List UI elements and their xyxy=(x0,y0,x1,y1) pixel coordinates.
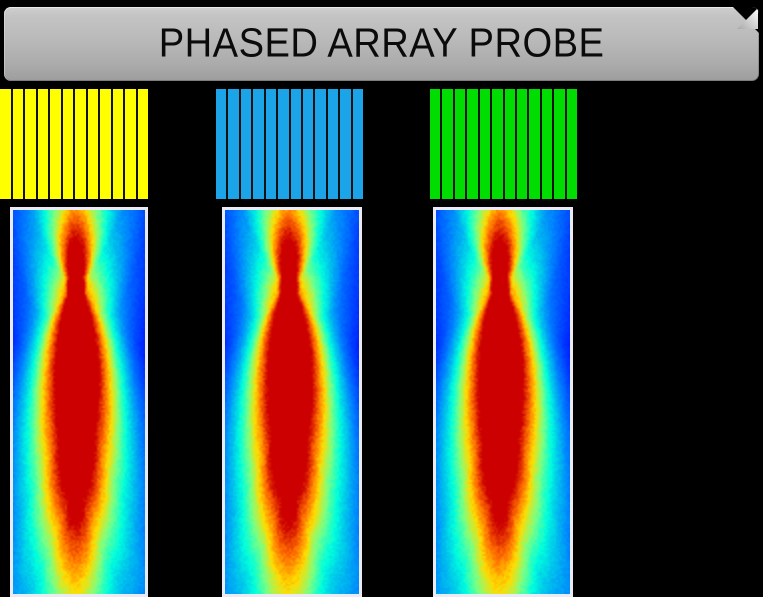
array-element[interactable] xyxy=(113,89,124,199)
title-banner: PHASED ARRAY PROBE xyxy=(4,7,759,81)
beam-field-image xyxy=(13,210,145,594)
array-element[interactable] xyxy=(138,89,149,199)
array-element[interactable] xyxy=(266,89,276,199)
array-element[interactable] xyxy=(529,89,539,199)
array-element[interactable] xyxy=(340,89,350,199)
array-element[interactable] xyxy=(303,89,313,199)
array-element[interactable] xyxy=(25,89,36,199)
array-element[interactable] xyxy=(100,89,111,199)
array-element[interactable] xyxy=(542,89,552,199)
beam-field-blue[interactable] xyxy=(222,207,362,597)
array-element[interactable] xyxy=(0,89,11,199)
array-element[interactable] xyxy=(253,89,263,199)
array-element[interactable] xyxy=(315,89,325,199)
array-element[interactable] xyxy=(505,89,515,199)
array-element[interactable] xyxy=(455,89,465,199)
array-element[interactable] xyxy=(125,89,136,199)
array-element[interactable] xyxy=(567,89,577,199)
array-element[interactable] xyxy=(38,89,49,199)
array-element[interactable] xyxy=(63,89,74,199)
array-element[interactable] xyxy=(430,89,440,199)
array-element[interactable] xyxy=(492,89,502,199)
array-element[interactable] xyxy=(228,89,238,199)
array-element[interactable] xyxy=(517,89,527,199)
beam-field-green[interactable] xyxy=(433,207,573,597)
array-element[interactable] xyxy=(291,89,301,199)
page-title-text: PHASED ARRAY PROBE xyxy=(159,23,605,64)
array-element[interactable] xyxy=(241,89,251,199)
yellow-element-array[interactable] xyxy=(0,89,148,199)
array-element[interactable] xyxy=(328,89,338,199)
array-element[interactable] xyxy=(480,89,490,199)
array-element[interactable] xyxy=(75,89,86,199)
screenshot-stage: PHASED ARRAY PROBE xyxy=(0,0,763,597)
beam-field-image xyxy=(436,210,570,594)
array-element[interactable] xyxy=(554,89,564,199)
array-element[interactable] xyxy=(442,89,452,199)
array-element[interactable] xyxy=(50,89,61,199)
array-element[interactable] xyxy=(353,89,363,199)
blue-element-array[interactable] xyxy=(216,89,363,199)
beam-field-image xyxy=(225,210,359,594)
array-element[interactable] xyxy=(216,89,226,199)
beam-field-yellow[interactable] xyxy=(10,207,148,597)
array-element[interactable] xyxy=(88,89,99,199)
array-element[interactable] xyxy=(13,89,24,199)
array-element[interactable] xyxy=(467,89,477,199)
array-element[interactable] xyxy=(278,89,288,199)
green-element-array[interactable] xyxy=(430,89,577,199)
page-title: PHASED ARRAY PROBE xyxy=(4,23,759,64)
